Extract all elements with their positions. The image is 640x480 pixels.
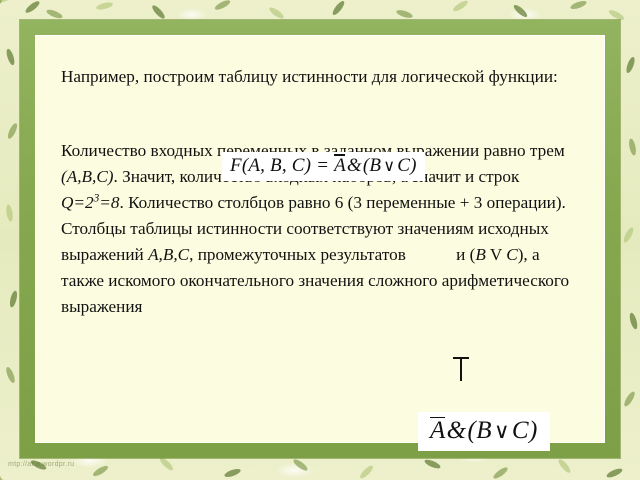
leaf-decoration	[424, 458, 442, 470]
formula-2-or-symbol: ∨	[492, 419, 512, 443]
explanation-rows-result: =8	[99, 193, 119, 212]
explanation-seg-10: и (	[456, 245, 475, 264]
formula-2-var-b: B	[476, 417, 492, 444]
leaf-decoration	[9, 290, 19, 308]
leaf-decoration	[395, 9, 413, 20]
formula-2-close-paren: )	[529, 417, 538, 444]
slide-canvas: Например, построим таблицу истинности дл…	[0, 0, 640, 480]
leaf-decoration	[292, 457, 309, 472]
stray-overbar-line	[453, 357, 469, 359]
leaf-decoration	[5, 204, 14, 222]
explanation-rows-formula: Q=2	[61, 193, 94, 212]
explanation-var-b: B	[475, 245, 486, 264]
formula-1-negated-a: A	[334, 154, 346, 177]
leaf-decoration	[625, 56, 636, 74]
slide-text-body: Например, построим таблицу истинности дл…	[61, 64, 581, 320]
formula-1-close-paren: )	[410, 155, 417, 176]
formula-2-var-c: C	[512, 417, 529, 444]
formula-2-open-paren: (	[468, 417, 477, 444]
formula-2-and-symbol: &	[446, 417, 468, 444]
leaf-decoration	[452, 0, 470, 13]
leaf-decoration	[628, 138, 637, 156]
slide-content-panel: Например, построим таблицу истинности дл…	[35, 35, 605, 443]
paragraph-intro-text: Например, построим таблицу истинности дл…	[61, 67, 558, 86]
leaf-decoration	[158, 456, 174, 472]
leaf-decoration	[331, 0, 346, 17]
leaf-decoration	[214, 0, 232, 12]
explanation-seg-9: , промежуточных результатов	[189, 245, 410, 264]
leaf-decoration	[268, 6, 285, 21]
explanation-var-c: C	[506, 245, 517, 264]
paragraph-intro: Например, построим таблицу истинности дл…	[61, 64, 581, 90]
leaf-decoration	[223, 467, 241, 478]
formula-1-args: (A, B, C)	[242, 155, 311, 176]
leaf-decoration	[96, 1, 114, 11]
stray-overbar-artifact	[453, 357, 469, 381]
formula-1-var-c: C	[397, 155, 410, 176]
formula-1-equals: =	[316, 155, 329, 176]
formula-2-negated-a: A	[430, 416, 446, 445]
formula-1-and-symbol: &	[346, 155, 363, 176]
formula-1-spacer	[61, 90, 581, 138]
formula-1-var-b: B	[369, 155, 381, 176]
stray-overbar-stem	[460, 359, 462, 381]
leaf-decoration	[92, 464, 110, 478]
explanation-vars-abc: (A,B,C)	[61, 167, 114, 186]
leaf-decoration	[5, 366, 17, 384]
formula-expression: A&(B∨C)	[418, 412, 550, 451]
explanation-or-symbol: V	[486, 245, 506, 264]
leaf-decoration	[151, 4, 167, 21]
leaf-decoration	[492, 466, 509, 480]
leaf-decoration	[628, 312, 638, 330]
leaf-decoration	[606, 467, 624, 479]
formula-1-lhs: F	[230, 155, 242, 176]
leaf-decoration	[569, 0, 587, 11]
leaf-decoration	[622, 390, 636, 408]
leaf-decoration	[622, 226, 635, 244]
leaf-decoration	[557, 458, 573, 475]
source-watermark: mtp://aria.wordpr.ru	[8, 461, 74, 468]
formula-function-definition: F(A, B, C) = A&(B∨C)	[222, 152, 425, 181]
leaf-decoration	[358, 464, 374, 480]
leaf-decoration	[512, 3, 529, 19]
leaf-decoration	[6, 122, 19, 140]
explanation-columns-abc: A,B,C	[148, 245, 189, 264]
formula-1-or-symbol: ∨	[381, 158, 397, 175]
leaf-decoration	[45, 8, 63, 20]
leaf-decoration	[24, 0, 41, 15]
leaf-decoration	[5, 48, 16, 66]
